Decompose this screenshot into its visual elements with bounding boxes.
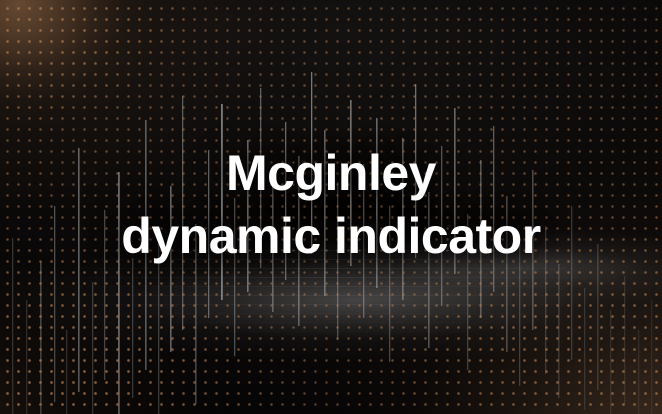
title-line-2: dynamic indicator <box>0 205 662 268</box>
candlestick-bar <box>132 258 133 398</box>
candlestick-bar <box>66 330 67 414</box>
title-line-1: Mcginley <box>0 142 662 205</box>
candlestick-bar <box>610 310 611 414</box>
candlestick-bar <box>92 282 93 414</box>
candlestick-bar <box>584 288 585 410</box>
hero-banner: Mcginley dynamic indicator <box>0 0 662 414</box>
candlestick-bar <box>26 300 27 414</box>
candlestick-bar <box>40 262 42 414</box>
data-floor-grid <box>0 250 662 414</box>
candlestick-bar <box>624 276 625 404</box>
page-title: Mcginley dynamic indicator <box>0 142 662 268</box>
candlestick-bar <box>651 300 652 414</box>
candlestick-bar <box>638 330 639 414</box>
candlestick-bar <box>558 264 560 398</box>
